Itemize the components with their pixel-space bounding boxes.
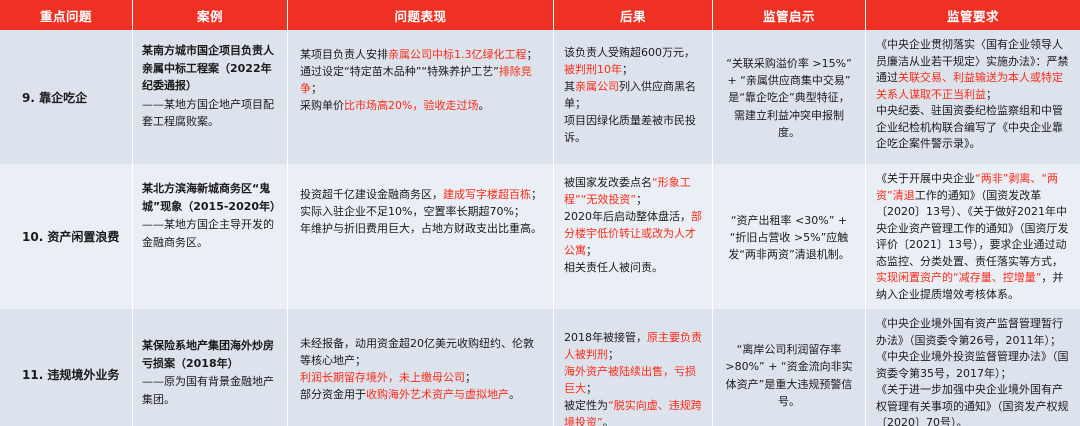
behavior-line-3: 部分资金用于收购海外艺术资产与虚拟地产。 <box>300 386 543 403</box>
result-line-2: 其亲属公司列入供应商黑名单； <box>564 78 703 112</box>
column-header-insight: 监管启示 <box>713 0 866 30</box>
column-header-case: 案例 <box>133 0 288 30</box>
case-title: 某北方滨海新城商务区“鬼城”现象（2015-2020年） <box>142 180 278 215</box>
behavior-line-1: 未经报备，动用资金超20亿美元收购纽约、伦敦等核心地产； <box>300 335 543 369</box>
behavior-line-3: 年维护与折旧费用巨大，占地方财政支出比重高。 <box>300 220 543 237</box>
regulation-paragraph-3: 《关于进一步加强中央企业境外国有产权管理有关事项的通知》（国资发产权规〔2020… <box>876 382 1072 426</box>
cell-behavior: 未经报备，动用资金超20亿美元收购纽约、伦敦等核心地产； 利润长期留存境外，未上… <box>288 309 554 426</box>
result-line-2: 2020年后启动整体盘活，部分楼宇低价转让或改为人才公寓； <box>564 208 703 259</box>
result-line-3: 项目因绿化质量差被市民投诉。 <box>564 112 703 146</box>
table-header-row: 重点问题 案例 问题表现 后果 监管启示 监管要求 <box>0 0 1080 30</box>
insight-text: “关联采购溢价率 >15%” + “亲属供应商集中交易” 是“靠企吃企”典型特征… <box>725 55 853 140</box>
regulation-paragraph-1: 《中央企业境外国有资产监督管理暂行办法》（国资委令第26号，2011年）； <box>876 316 1072 349</box>
regulation-paragraph-2: 《中央企业境外投资监督管理办法》（国资委令第35号，2017年）； <box>876 349 1072 382</box>
column-header-issue: 重点问题 <box>0 0 133 30</box>
result-line-2: 海外资产被陆续出售，亏损巨大； <box>564 363 703 397</box>
result-line-3: 相关责任人被问责。 <box>564 259 703 276</box>
case-subtitle: ——原为国有背景金融地产集团。 <box>142 373 278 408</box>
issue-table: 重点问题 案例 问题表现 后果 监管启示 监管要求 9. 靠企吃企 某南方城市国… <box>0 0 1080 426</box>
case-title: 某保险系地产集团海外炒房亏损案（2018年） <box>142 337 278 372</box>
column-header-regulation: 监管要求 <box>866 0 1080 30</box>
behavior-line-3: 采购单价比市场高20%，验收走过场。 <box>300 97 543 114</box>
cell-regulation: 《中央企业贯彻落实〈国有企业领导人员廉洁从业若干规定〉实施办法》：严禁通过关联交… <box>866 30 1080 164</box>
column-header-behavior: 问题表现 <box>288 0 554 30</box>
cell-case: 某南方城市国企项目负责人亲属中标工程案（2022年纪委通报） ——某地方国企地产… <box>133 30 288 164</box>
cell-result: 被国家发改委点名“形象工程”“无效投资”； 2020年后启动整体盘活，部分楼宇低… <box>554 164 713 309</box>
cell-result: 该负责人受贿超600万元，被判刑10年； 其亲属公司列入供应商黑名单； 项目因绿… <box>554 30 713 164</box>
cell-result: 2018年被接管，原主要负责人被判刑； 海外资产被陆续出售，亏损巨大； 被定性为… <box>554 309 713 426</box>
table-row: 9. 靠企吃企 某南方城市国企项目负责人亲属中标工程案（2022年纪委通报） —… <box>0 30 1080 164</box>
cell-insight: “关联采购溢价率 >15%” + “亲属供应商集中交易” 是“靠企吃企”典型特征… <box>713 30 866 164</box>
behavior-line-2: 通过设定“特定苗木品种”“特殊养护工艺”排除竞争； <box>300 63 543 97</box>
insight-text: “离岸公司利润留存率 >80%” + “资金流向非实体资产”是重大违规预警信号。 <box>725 341 853 409</box>
cell-issue: 11. 违规境外业务 <box>0 309 133 426</box>
case-subtitle: ——某地方国企地产项目配套工程腐败案。 <box>142 96 278 131</box>
regulation-paragraph-2: 中央纪委、驻国资委纪检监察组和中管企业纪检机构联合编写了《中央企业靠企吃企案件警… <box>876 103 1072 153</box>
behavior-line-2: 利润长期留存境外，未上缴母公司； <box>300 369 543 386</box>
cell-insight: “资产出租率 <30%” + “折旧占营收 >5%”应触发“两非两资”清退机制。 <box>713 164 866 309</box>
insight-text: “资产出租率 <30%” + “折旧占营收 >5%”应触发“两非两资”清退机制。 <box>725 212 853 263</box>
column-header-result: 后果 <box>554 0 713 30</box>
table-row: 11. 违规境外业务 某保险系地产集团海外炒房亏损案（2018年） ——原为国有… <box>0 309 1080 426</box>
table-row: 10. 资产闲置浪费 某北方滨海新城商务区“鬼城”现象（2015-2020年） … <box>0 164 1080 309</box>
table-body: 9. 靠企吃企 某南方城市国企项目负责人亲属中标工程案（2022年纪委通报） —… <box>0 30 1080 426</box>
cell-insight: “离岸公司利润留存率 >80%” + “资金流向非实体资产”是重大违规预警信号。 <box>713 309 866 426</box>
cell-issue: 9. 靠企吃企 <box>0 30 133 164</box>
cell-case: 某保险系地产集团海外炒房亏损案（2018年） ——原为国有背景金融地产集团。 <box>133 309 288 426</box>
cell-case: 某北方滨海新城商务区“鬼城”现象（2015-2020年） ——某地方国企主导开发… <box>133 164 288 309</box>
result-line-3: 被定性为“脱实向虚、违规跨境投资”。 <box>564 397 703 426</box>
regulation-paragraph-1: 《中央企业贯彻落实〈国有企业领导人员廉洁从业若干规定〉实施办法》：严禁通过关联交… <box>876 37 1072 103</box>
cell-issue: 10. 资产闲置浪费 <box>0 164 133 309</box>
behavior-line-1: 投资超千亿建设金融商务区，建成写字楼超百栋； <box>300 186 543 203</box>
behavior-line-1: 某项目负责人安排亲属公司中标1.3亿绿化工程； <box>300 46 543 63</box>
cell-behavior: 投资超千亿建设金融商务区，建成写字楼超百栋； 实际入驻企业不足10%，空置率长期… <box>288 164 554 309</box>
behavior-line-2: 实际入驻企业不足10%，空置率长期超70%； <box>300 203 543 220</box>
cell-regulation: 《关于开展中央企业“两非”剥离、“两资”清退工作的通知》（国资发改革〔2020〕… <box>866 164 1080 309</box>
case-title: 某南方城市国企项目负责人亲属中标工程案（2022年纪委通报） <box>142 42 278 95</box>
cell-behavior: 某项目负责人安排亲属公司中标1.3亿绿化工程； 通过设定“特定苗木品种”“特殊养… <box>288 30 554 164</box>
cell-regulation: 《中央企业境外国有资产监督管理暂行办法》（国资委令第26号，2011年）； 《中… <box>866 309 1080 426</box>
case-subtitle: ——某地方国企主导开发的金融商务区。 <box>142 216 278 251</box>
